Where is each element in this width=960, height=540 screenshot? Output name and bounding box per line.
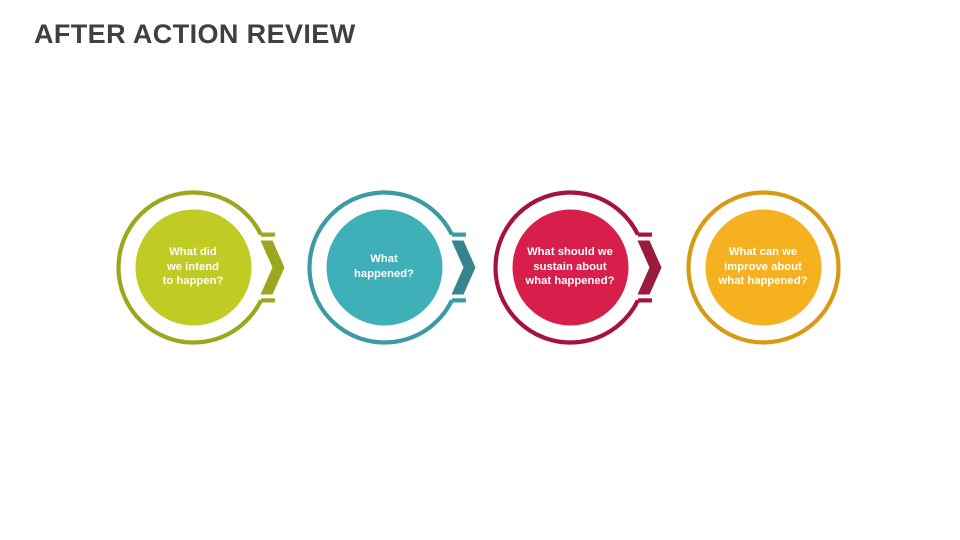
diagram-stage-2[interactable]: What happened? xyxy=(307,180,482,355)
stage-shape-1 xyxy=(116,180,291,355)
stage-shape-3 xyxy=(493,180,668,355)
stage-chevron-arrow-icon xyxy=(637,240,661,294)
stage-inner-circle[interactable] xyxy=(326,209,442,325)
stage-shape-4 xyxy=(686,180,861,355)
diagram-stage-3[interactable]: What should we sustain about what happen… xyxy=(493,180,668,355)
stage-chevron-arrow-icon xyxy=(451,240,475,294)
stage-shape-2 xyxy=(307,180,482,355)
stage-inner-circle[interactable] xyxy=(135,209,251,325)
stage-chevron-arrow-icon xyxy=(260,240,284,294)
stage-inner-circle[interactable] xyxy=(512,209,628,325)
stage-inner-circle[interactable] xyxy=(705,209,821,325)
diagram-stage-1[interactable]: What did we intend to happen? xyxy=(116,180,291,355)
after-action-review-diagram: What did we intend to happen?What happen… xyxy=(0,0,960,540)
slide-canvas: AFTER ACTION REVIEW What did we intend t… xyxy=(0,0,960,540)
diagram-stage-4[interactable]: What can we improve about what happened? xyxy=(686,180,861,355)
